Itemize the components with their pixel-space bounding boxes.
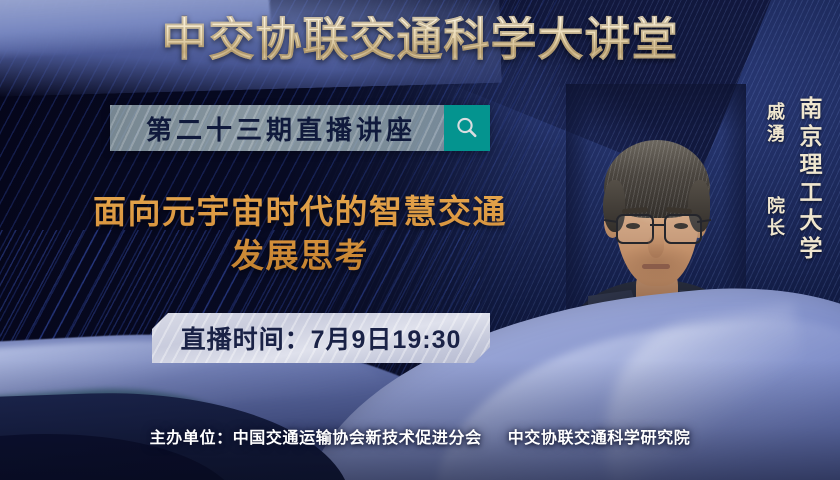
footer-organizer-1: 中国交通运输协会新技术促进分会	[233, 430, 482, 447]
search-icon	[454, 115, 480, 141]
speaker-name: 戚湧	[762, 102, 788, 146]
speaker-organization: 南京理工大学	[792, 96, 826, 264]
portrait-nose	[648, 234, 664, 258]
broadcast-time-text: 直播时间：7月9日19:30	[181, 320, 462, 356]
portrait-mouth	[642, 264, 670, 269]
search-icon-button[interactable]	[444, 105, 490, 151]
footer-prefix: 主办单位：	[150, 430, 233, 447]
episode-label: 第二十三期直播讲座	[110, 110, 444, 147]
lecture-title: 面向元宇宙时代的智慧交通 发展思考	[40, 190, 560, 278]
lecture-title-line-2: 发展思考	[40, 234, 560, 278]
lecture-title-line-1: 面向元宇宙时代的智慧交通	[40, 190, 560, 234]
poster-canvas: 中交协联交通科学大讲堂 第二十三期直播讲座 面向元宇宙时代的智慧交通 发展思考 …	[0, 0, 840, 480]
footer-organizer-2: 中交协联交通科学研究院	[508, 430, 691, 447]
broadcast-time-badge: 直播时间：7月9日19:30	[152, 313, 490, 363]
glasses-lens-right	[664, 214, 702, 244]
footer-organizers: 主办单位：中国交通运输协会新技术促进分会中交协联交通科学研究院	[0, 424, 840, 448]
episode-search-banner[interactable]: 第二十三期直播讲座	[110, 105, 490, 151]
glasses-bridge	[650, 224, 664, 226]
speaker-role: 院长	[762, 196, 788, 240]
page-title: 中交协联交通科学大讲堂	[0, 16, 840, 62]
